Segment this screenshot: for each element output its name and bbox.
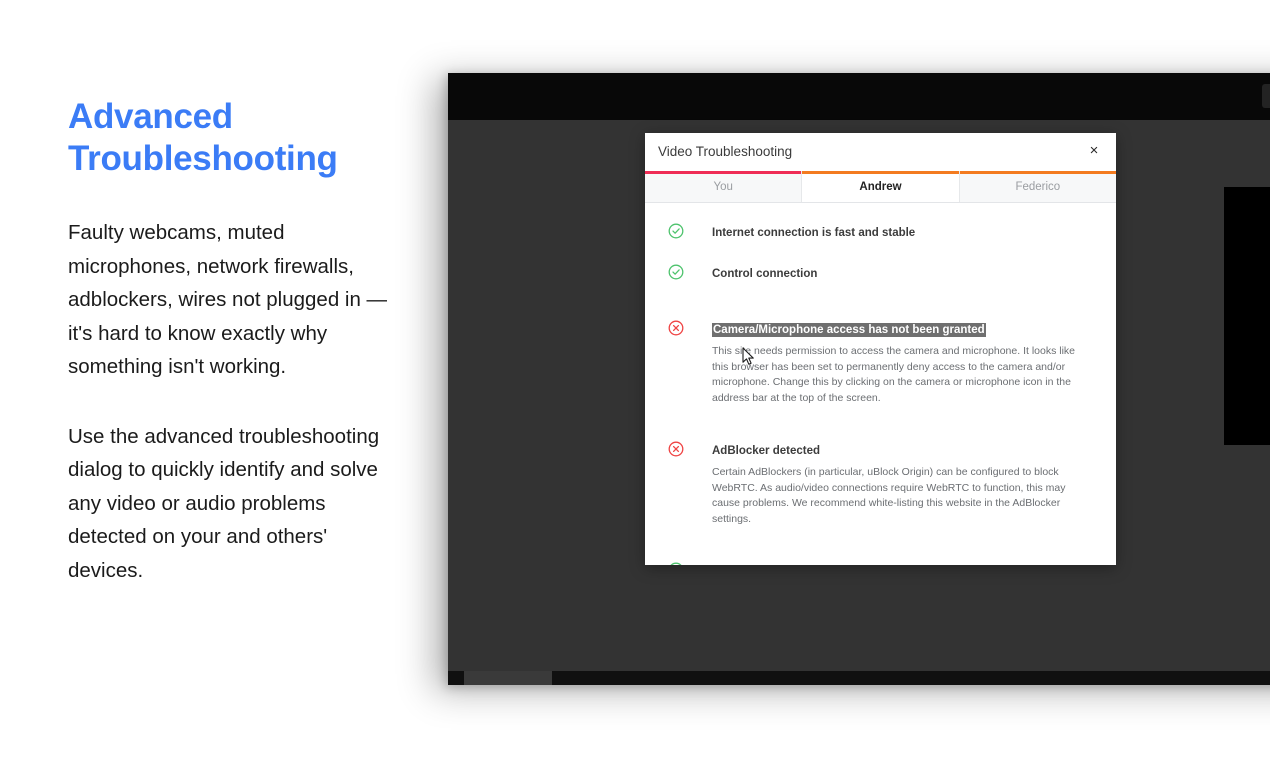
- list-item-title: Control connection: [712, 268, 817, 280]
- list-item: Camera/Microphone access has not been gr…: [667, 320, 1094, 406]
- list-item-description: This site needs permission to access the…: [712, 344, 1094, 406]
- list-item-title-selected[interactable]: Camera/Microphone access has not been gr…: [712, 323, 986, 337]
- tab-label: You: [713, 181, 732, 193]
- explainer-column: Advanced Troubleshooting Faulty webcams,…: [68, 96, 398, 587]
- list-item-title: Internet connection is fast and stable: [712, 227, 915, 239]
- video-tile[interactable]: [1224, 187, 1270, 445]
- invite-button[interactable]: Invite G: [1262, 84, 1270, 108]
- error-circle-icon: [668, 320, 684, 336]
- list-item: All video feeds are unmuted and playing: [667, 562, 1094, 565]
- list-item-description: Certain AdBlockers (in particular, uBloc…: [712, 465, 1094, 527]
- dialog-title: Video Troubleshooting: [658, 144, 792, 159]
- tab-accent-bar: [645, 171, 801, 174]
- video-troubleshooting-dialog: Video Troubleshooting × You Andrew Feder…: [645, 133, 1116, 565]
- diagnostics-list: Internet connection is fast and stable C…: [645, 203, 1116, 565]
- app-bottombar-segment: [464, 671, 552, 685]
- tab-accent-bar: [960, 171, 1116, 174]
- tab-andrew[interactable]: Andrew: [802, 171, 959, 202]
- check-circle-icon: [668, 264, 684, 280]
- page-root: Advanced Troubleshooting Faulty webcams,…: [0, 0, 1270, 760]
- check-circle-icon: [668, 562, 684, 565]
- list-item: Control connection: [667, 264, 1094, 282]
- participant-tabs: You Andrew Federico: [645, 171, 1116, 203]
- app-bottombar: [448, 671, 1270, 685]
- check-circle-icon: [668, 223, 684, 239]
- error-circle-icon: [668, 441, 684, 457]
- tab-label: Federico: [1015, 181, 1060, 193]
- dialog-header: Video Troubleshooting ×: [645, 133, 1116, 171]
- tab-federico[interactable]: Federico: [960, 171, 1116, 202]
- tab-accent-bar: [802, 171, 958, 174]
- app-topbar: Invite G: [448, 73, 1270, 120]
- list-item: AdBlocker detected Certain AdBlockers (i…: [667, 441, 1094, 527]
- close-icon[interactable]: ×: [1084, 141, 1104, 161]
- tab-label: Andrew: [859, 181, 901, 193]
- page-title: Advanced Troubleshooting: [68, 96, 398, 180]
- list-item: Internet connection is fast and stable: [667, 223, 1094, 241]
- list-item-title: AdBlocker detected: [712, 445, 820, 457]
- explainer-paragraph-1: Faulty webcams, muted microphones, netwo…: [68, 216, 398, 384]
- explainer-paragraph-2: Use the advanced troubleshooting dialog …: [68, 420, 398, 588]
- tab-you[interactable]: You: [645, 171, 802, 202]
